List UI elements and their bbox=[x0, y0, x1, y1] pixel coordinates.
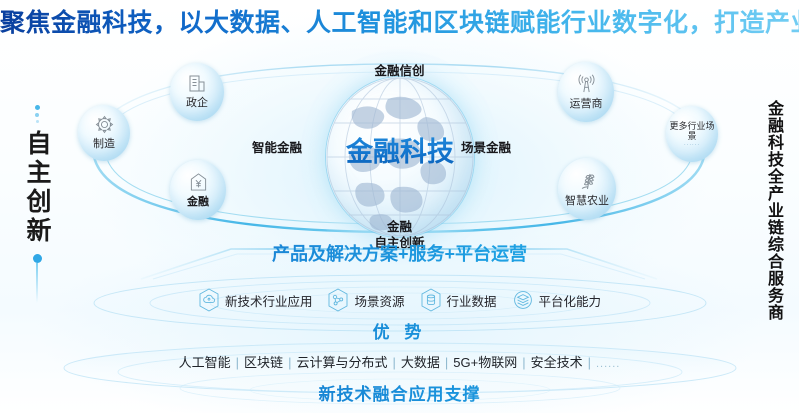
core-label: 金融科技 bbox=[326, 137, 474, 167]
database-hex-icon bbox=[420, 288, 442, 312]
tech-separator: | bbox=[288, 355, 291, 370]
bubble-yunying[interactable]: 运营商 bbox=[558, 62, 614, 122]
bubble-label: 智慧农业 bbox=[565, 192, 609, 208]
page-title: 聚焦金融科技，以大数据、人工智能和区块链赋能行业数字化，打造产业融合新生态 bbox=[0, 8, 799, 38]
tech-item: 区块链 bbox=[244, 355, 283, 370]
core-tag-bottom-line1: 金融 bbox=[387, 220, 412, 234]
wheat-icon bbox=[577, 171, 597, 191]
tech-item: 安全技术 bbox=[531, 355, 583, 370]
bubble-label: 运营商 bbox=[570, 95, 603, 111]
tech-stack-row: 人工智能|区块链|云计算与分布式|大数据|5G+物联网|安全技术|...... bbox=[0, 352, 799, 371]
bubble-label: 更多行业场景 bbox=[666, 121, 718, 141]
left-vertical-callout: 自主创新 bbox=[14, 105, 60, 303]
tech-item: 人工智能 bbox=[179, 355, 231, 370]
bank-yuan-icon bbox=[189, 172, 208, 192]
bubble-label: 制造 bbox=[93, 135, 115, 151]
capability-label: 新技术行业应用 bbox=[225, 291, 313, 310]
cloud-hex-icon bbox=[198, 288, 220, 312]
layers-hex-icon bbox=[512, 288, 534, 312]
bubble-sublabel: ······ bbox=[684, 142, 700, 148]
network-hex-icon bbox=[327, 288, 349, 312]
tech-separator: | bbox=[522, 355, 525, 370]
capability-item-1[interactable]: 场景资源 bbox=[327, 288, 404, 312]
support-line-label: 新技术融合应用支撑 bbox=[0, 380, 799, 405]
infographic-canvas: 聚焦金融科技，以大数据、人工智能和区块链赋能行业数字化，打造产业融合新生态 自主… bbox=[0, 0, 799, 413]
tech-separator: | bbox=[588, 355, 591, 370]
tech-item: 5G+物联网 bbox=[453, 355, 517, 370]
capability-label: 行业数据 bbox=[447, 291, 497, 310]
tech-separator: | bbox=[236, 355, 239, 370]
product-line-label: 产品及解决方案+服务+平台运营 bbox=[0, 243, 799, 265]
gear-icon bbox=[95, 115, 114, 134]
core-tag-right: 场景金融 bbox=[461, 137, 511, 156]
core-tag-left: 智能金融 bbox=[252, 137, 302, 156]
bubble-zhengqi[interactable]: 政企 bbox=[170, 63, 224, 121]
bubble-label: 政企 bbox=[186, 94, 208, 110]
tech-item: 大数据 bbox=[401, 355, 440, 370]
dots-decoration-icon bbox=[35, 105, 40, 123]
capability-label: 平台化能力 bbox=[539, 291, 602, 310]
tech-separator: | bbox=[445, 355, 448, 370]
capability-label: 场景资源 bbox=[354, 291, 404, 310]
tech-separator: | bbox=[392, 355, 395, 370]
capability-row: 新技术行业应用 场景资源 行业数据 bbox=[0, 288, 799, 312]
bubble-zhizao[interactable]: 制造 bbox=[78, 105, 130, 161]
capability-item-3[interactable]: 平台化能力 bbox=[512, 288, 602, 312]
tech-item: 云计算与分布式 bbox=[296, 355, 387, 370]
tech-ellipsis: ...... bbox=[596, 358, 620, 370]
bubble-label: 金融 bbox=[187, 193, 209, 209]
bubble-jinrong[interactable]: 金融 bbox=[170, 160, 226, 220]
core-tag-top: 金融信创 bbox=[0, 60, 799, 79]
capability-item-2[interactable]: 行业数据 bbox=[420, 288, 497, 312]
bubble-nongye[interactable]: 智慧农业 bbox=[558, 158, 616, 220]
antenna-icon bbox=[577, 74, 596, 94]
building-icon bbox=[188, 74, 206, 93]
central-globe: 金融科技 bbox=[326, 77, 474, 237]
bubble-gengduo[interactable]: 更多行业场景 ······ bbox=[666, 106, 718, 162]
capability-item-0[interactable]: 新技术行业应用 bbox=[198, 288, 313, 312]
